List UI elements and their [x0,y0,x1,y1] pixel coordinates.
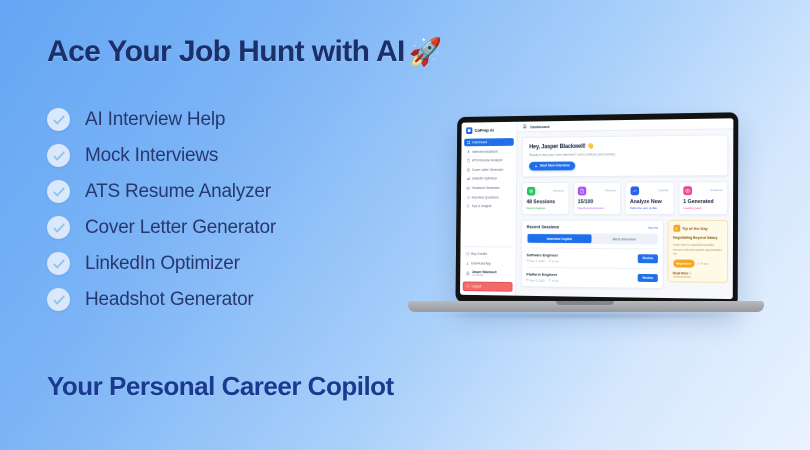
read-more-link[interactable]: Read More › [673,271,691,277]
download-icon [465,261,469,265]
wallet-icon [465,252,469,256]
sidebar-item-headshot-generator[interactable]: Headshot Generator [464,184,514,192]
session-duration: 8 min [548,278,558,282]
check-icon [47,180,70,203]
mic-icon [466,150,470,154]
user-meta: Jasper Blackwell 20 Credits [472,270,497,278]
session-date: Nov 7, 2025 [526,259,544,263]
list-icon [466,195,470,199]
stat-value: Analyze Now [630,199,669,205]
tip-read-time: 4 min [698,262,709,266]
feature-label: Cover Letter Generator [85,217,276,239]
feature-item-mock-interviews: Mock Interviews [47,144,447,167]
brand-name: CoPrep AI [475,128,494,133]
feature-item-linkedin-optimizer: LinkedIn Optimizer [47,252,447,275]
greeting-subtitle: Ready to ace your next interview? Let's … [529,151,720,157]
stat-header: LinkedIn [630,186,669,195]
document-icon [466,159,470,163]
stat-note: Great progress [526,206,563,210]
stat-note: Optimize your profile [630,206,669,210]
check-icon [47,252,70,275]
play-icon [535,164,538,167]
sidebar-item-tips-insights[interactable]: Tips & Insights [464,202,514,210]
sidebar-item-label: Interview Assistant [472,149,497,153]
sidebar-item-interview-questions[interactable]: Interview Questions [464,193,514,201]
review-button[interactable]: Review [638,254,658,262]
sidebar-item-download-app[interactable]: Download App [463,259,513,267]
bulb-icon [466,204,470,208]
tip-body: Learn how to negotiate benefits, remote … [673,243,723,256]
sidebar-item-linkedin-optimizer[interactable]: LinkedIn Optimizer [464,175,514,183]
feature-item-ai-interview-help: AI Interview Help [47,108,447,131]
review-button[interactable]: Review [638,274,658,283]
recent-sessions-title: Recent Sessions [527,225,559,230]
sidebar-item-cover-letter-generator[interactable]: Cover Letter Generator [464,166,514,174]
tab-mock-interview[interactable]: Mock Interview [592,235,658,244]
tab-interview-copilot[interactable]: Interview Copilot [528,234,592,243]
main-content: Hey, Jasper Blackwell! 👋 Ready to ace yo… [516,129,733,295]
chart-icon [466,177,470,181]
stat-card-headshot[interactable]: Headshot 1 Generated Looking good [678,181,728,216]
app-logo-icon [466,127,472,134]
tip-headline: Negotiating Beyond Salary [673,236,723,241]
stat-header: Resume [578,186,616,195]
feature-label: ATS Resume Analyzer [85,181,271,203]
feature-item-ats-resume-analyzer: ATS Resume Analyzer [47,180,447,203]
avatar [465,271,470,276]
camera-icon [466,186,470,190]
stat-card-linkedin[interactable]: LinkedIn Analyze Now Optimize your profi… [625,181,674,215]
headline-text: Ace Your Job Hunt with AI [47,35,405,68]
sidebar-item-dashboard[interactable]: Dashboard [464,138,514,146]
brand: CoPrep AI [464,126,514,139]
session-tabs: Interview Copilot Mock Interview [527,233,658,244]
read-more-label: Read More [673,271,689,275]
recent-sessions-card: Recent Sessions View All Interview Copil… [521,219,664,289]
laptop-screen-frame: CoPrep AI Dashboard Interview Assistant [455,112,738,307]
stat-tag: Resume [605,189,616,193]
session-date: Nov 5, 2025 [526,278,544,282]
bulb-icon [673,225,680,232]
stat-value: 48 Sessions [526,199,563,205]
breadcrumb: Dashboard [530,124,549,129]
check-icon [47,144,70,167]
check-icon [47,288,70,311]
sidebar-item-buy-credits[interactable]: Buy Credits [463,250,513,258]
sidebar-item-label: Headshot Generator [472,186,500,190]
menu-icon[interactable] [523,124,527,128]
document-icon [578,186,586,195]
sidebar-item-label: Cover Letter Generator [472,168,503,172]
recent-sessions-header: Recent Sessions View All [527,225,658,230]
start-new-interview-button[interactable]: Start New Interview [529,161,575,171]
stat-card-resume[interactable]: Resume 15/100 Needs improvement [573,181,622,215]
session-row: Platform Engineer Nov 5, 2025 8 min Revi… [526,267,658,284]
session-row: Software Engineer Nov 7, 2025 5 min Revi… [526,248,658,265]
sidebar-item-label: Buy Credits [471,252,487,256]
sidebar-item-label: Download App [471,261,491,265]
check-icon [47,216,70,239]
sidebar-bottom: Buy Credits Download App Jasper Blackwel [463,246,513,292]
sidebar-item-interview-assistant[interactable]: Interview Assistant [464,147,514,155]
sidebar-spacer [463,210,513,246]
feature-list: AI Interview Help Mock Interviews ATS Re… [47,108,447,311]
sidebar-nav: Dashboard Interview Assistant ATS Resume… [464,138,514,210]
wave-icon: 👋 [587,144,594,150]
laptop-screen: CoPrep AI Dashboard Interview Assistant [460,118,733,299]
stat-tag: Headshot [710,188,723,192]
logout-button[interactable]: Logout [463,281,513,291]
tip-title: Tip of the Day [682,226,708,231]
session-role: Platform Engineer [526,272,558,277]
tip-header: Tip of the Day [673,225,723,232]
tagline: Your Personal Career Copilot [47,371,394,402]
laptop-notch [556,301,614,305]
session-duration: 5 min [549,259,559,263]
page-title: Ace Your Job Hunt with AI🚀 [47,34,447,70]
tip-of-the-day-card: Tip of the Day Negotiating Beyond Salary… [667,220,728,283]
session-meta: Nov 5, 2025 8 min [526,278,558,282]
stat-value: 15/100 [578,199,616,205]
stat-header: Headshot [683,186,723,195]
logout-icon [466,284,470,288]
logout-label: Logout [472,284,481,288]
laptop-shadow [418,312,754,320]
grid-icon [466,141,470,145]
user-credits: 20 Credits [472,274,497,278]
greeting-text: Hey, Jasper Blackwell! [529,144,585,150]
stat-value: 1 Generated [683,199,723,205]
feature-label: Headshot Generator [85,289,254,311]
file-icon [466,168,470,172]
chevron-right-icon: › [690,271,691,275]
sidebar-item-label: Tips & Insights [472,204,492,208]
start-new-interview-label: Start New Interview [540,164,570,168]
feature-label: Mock Interviews [85,145,218,167]
stat-tag: LinkedIn [658,188,669,192]
stat-tag: Sessions [553,189,564,193]
stat-note: Looking good [683,206,723,210]
trend-icon [630,186,639,195]
stat-header: Sessions [527,186,564,195]
session-meta: Nov 7, 2025 5 min [526,259,558,263]
session-role: Software Engineer [526,252,558,257]
greeting-card: Hey, Jasper Blackwell! 👋 Ready to ace yo… [522,134,729,177]
sidebar-item-label: ATS Resume Analyzer [472,159,503,163]
feature-label: LinkedIn Optimizer [85,253,240,275]
feature-item-headshot-generator: Headshot Generator [47,288,447,311]
feature-label: AI Interview Help [85,109,225,131]
session-info: Platform Engineer Nov 5, 2025 8 min [526,272,558,283]
feature-item-cover-letter-generator: Cover Letter Generator [47,216,447,239]
sidebar-item-label: Interview Questions [472,195,499,199]
tip-badge: Negotiation [673,260,695,267]
stat-card-sessions[interactable]: Sessions 48 Sessions Great progress [521,182,569,216]
sidebar-item-ats-resume-analyzer[interactable]: ATS Resume Analyzer [464,156,514,164]
hero-content: Ace Your Job Hunt with AI🚀 AI Interview … [47,34,447,311]
session-info: Software Engineer Nov 7, 2025 5 min [526,252,558,263]
view-all-link[interactable]: View All [648,226,658,230]
laptop-mockup: CoPrep AI Dashboard Interview Assistant [408,112,764,332]
camera-icon [683,186,692,195]
dashboard-app: CoPrep AI Dashboard Interview Assistant [460,118,733,299]
greeting-title: Hey, Jasper Blackwell! 👋 [529,141,720,150]
tip-meta: Negotiation 4 min [673,260,723,268]
sidebar-item-label: LinkedIn Optimizer [472,177,498,181]
stat-note: Needs improvement [578,206,616,210]
sidebar: CoPrep AI Dashboard Interview Assistant [460,122,518,296]
stat-cards: Sessions 48 Sessions Great progress Resu… [521,181,728,216]
check-icon [47,108,70,131]
main-panel: Dashboard Hey, Jasper Blackwell! 👋 Ready… [516,118,733,299]
sidebar-item-label: Dashboard [472,140,487,144]
sidebar-user-profile[interactable]: Jasper Blackwell 20 Credits [463,268,513,279]
target-icon [527,187,535,196]
rocket-icon: 🚀 [409,37,442,67]
lower-section: Recent Sessions View All Interview Copil… [521,219,728,290]
